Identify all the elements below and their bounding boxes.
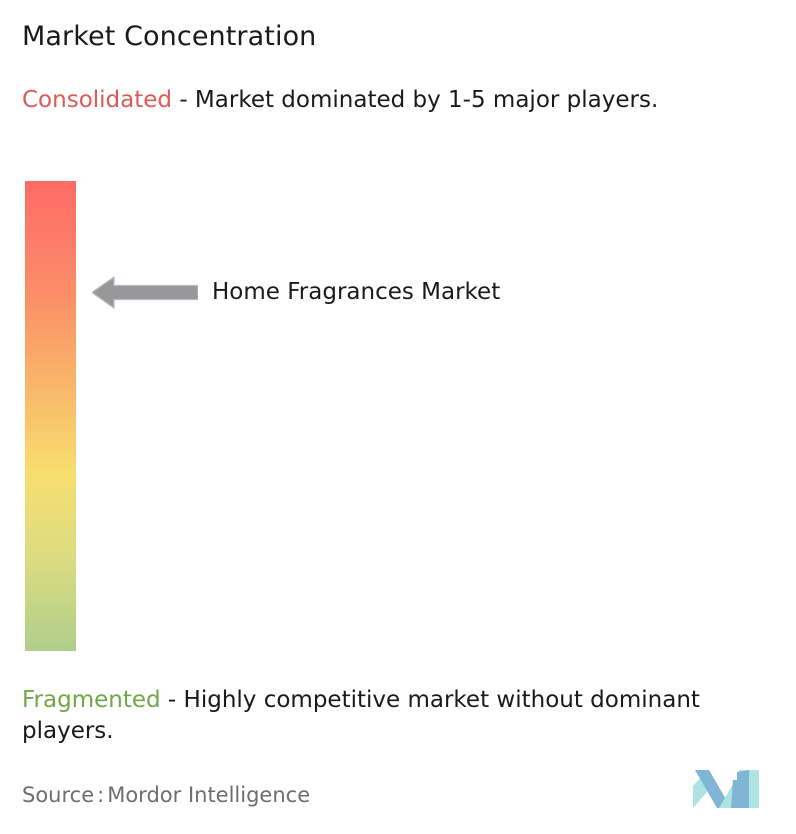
left-arrow-icon	[92, 276, 198, 309]
source-line: Source:Mordor Intelligence	[22, 782, 310, 809]
legend-fragmented: Fragmented - Highly competitive market w…	[22, 685, 784, 747]
page-title: Market Concentration	[22, 20, 316, 54]
concentration-gradient-scale	[25, 181, 76, 651]
legend-consolidated-keyword: Consolidated	[22, 87, 172, 113]
source-separator: :	[94, 783, 107, 807]
legend-fragmented-keyword: Fragmented	[22, 687, 161, 713]
mordor-intelligence-logo-icon	[693, 770, 759, 808]
market-concentration-chart: Market Concentration Consolidated - Mark…	[0, 0, 796, 834]
market-marker-label: Home Fragrances Market	[212, 278, 500, 307]
source-label: Source	[22, 783, 94, 807]
legend-consolidated-description: - Market dominated by 1-5 major players.	[172, 87, 658, 113]
source-value: Mordor Intelligence	[107, 783, 310, 807]
legend-consolidated: Consolidated - Market dominated by 1-5 m…	[22, 85, 762, 116]
